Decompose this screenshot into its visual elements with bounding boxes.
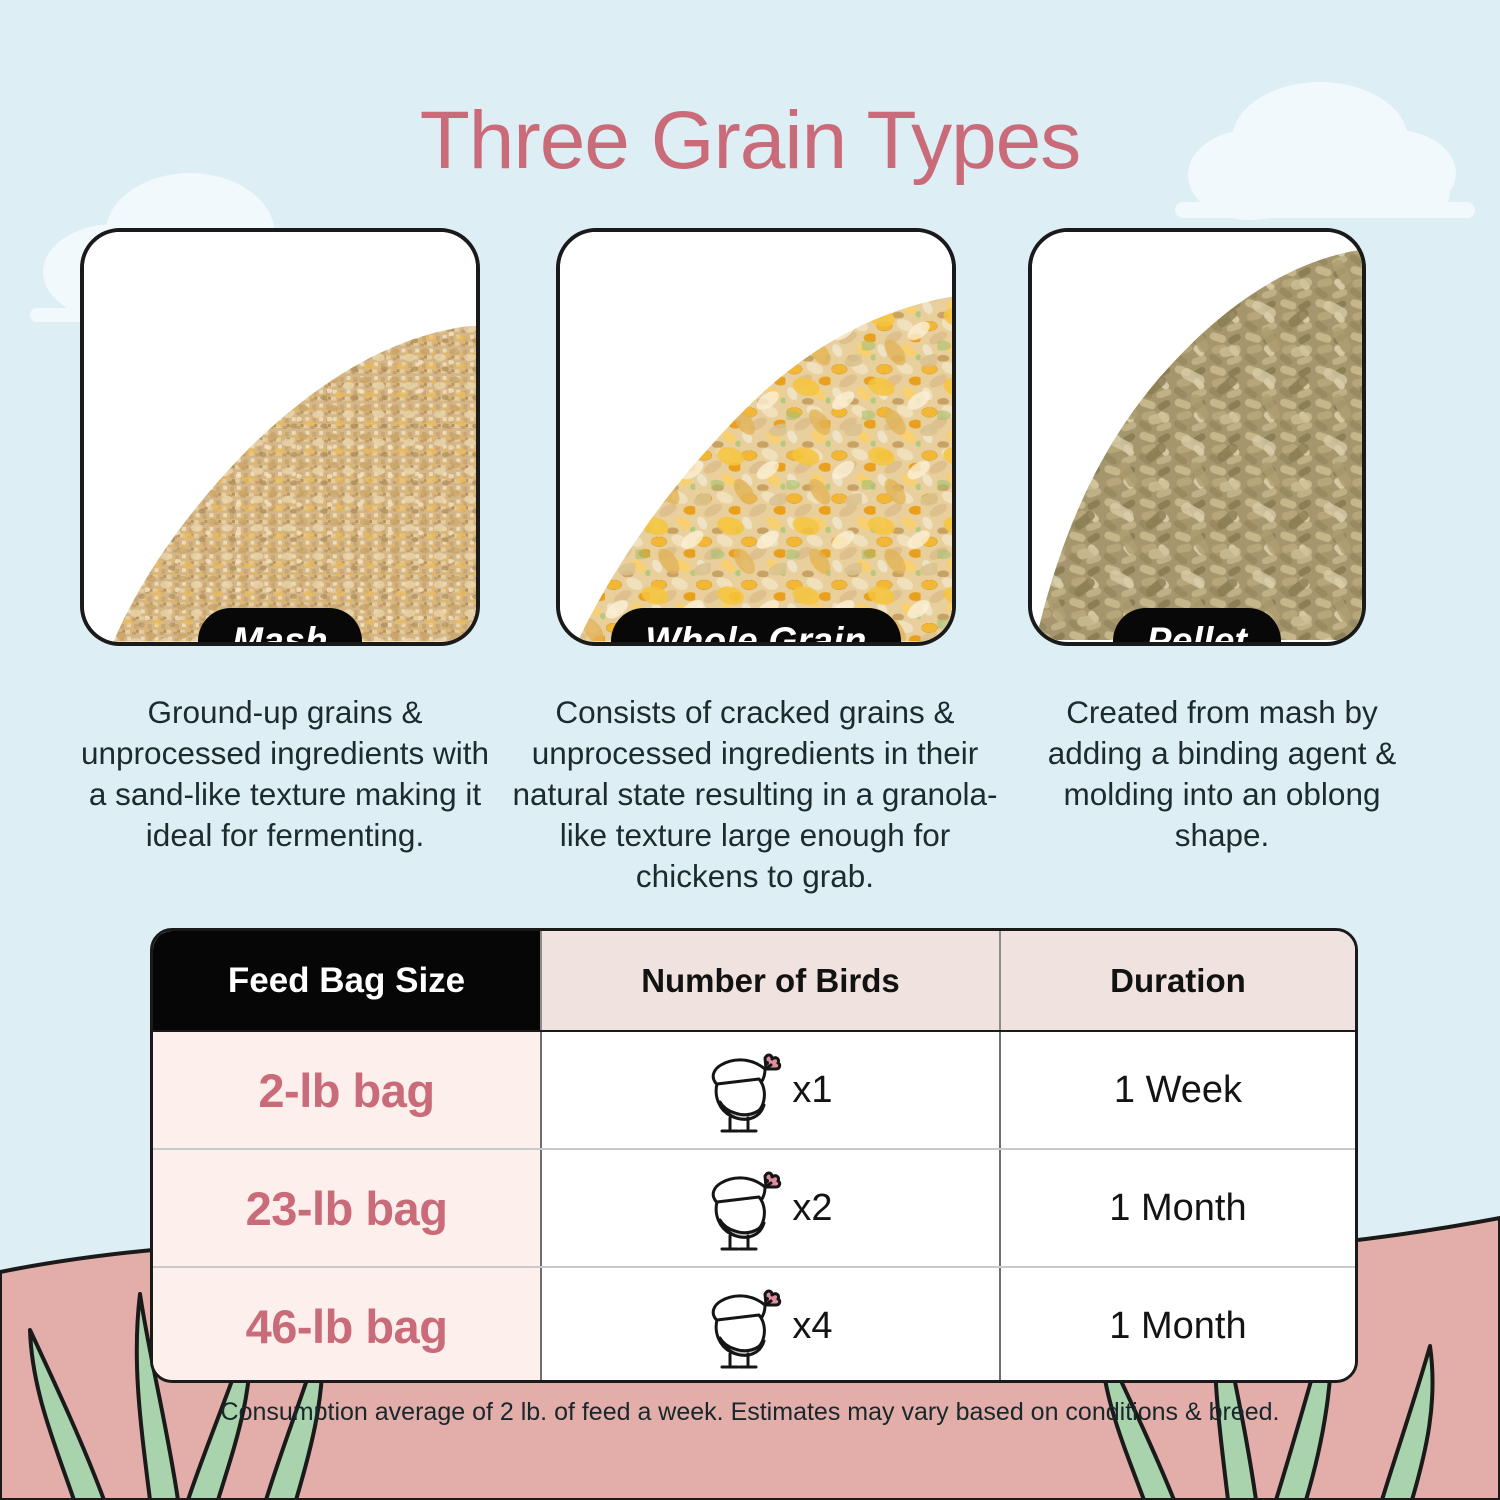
chicken-icon <box>708 1042 786 1138</box>
description-whole-grain: Consists of cracked grains & unprocessed… <box>510 692 1000 897</box>
table-header-row: Feed Bag Size Number of Birds Duration <box>153 931 1355 1030</box>
bird-count-label: x2 <box>792 1187 832 1230</box>
cell-number-of-birds: x1 <box>540 1032 999 1148</box>
bird-count-label: x4 <box>792 1305 832 1348</box>
mash-grain-photo <box>84 232 476 642</box>
table-header-duration: Duration <box>999 931 1355 1030</box>
grain-card-mash: Mash <box>80 228 480 646</box>
grain-card-pellet: Pellet <box>1028 228 1366 646</box>
chicken-icon <box>708 1160 786 1256</box>
description-pellet: Created from mash by adding a binding ag… <box>1022 692 1422 856</box>
bird-count-label: x1 <box>792 1069 832 1112</box>
pellet-grain-photo <box>1032 232 1362 640</box>
chicken-icon <box>708 1278 786 1374</box>
grain-card-whole-grain: Whole Grain <box>556 228 956 646</box>
table-row: 2-lb bag x1 1 Week <box>153 1030 1355 1148</box>
grain-card-row: Mash <box>0 228 1500 658</box>
footnote-text: Consumption average of 2 lb. of feed a w… <box>0 1398 1500 1427</box>
infographic-poster: Three Grain Types <box>0 0 1500 1500</box>
cell-feed-bag-size: 2-lb bag <box>153 1032 540 1148</box>
cell-duration: 1 Week <box>999 1032 1355 1148</box>
cell-number-of-birds: x4 <box>540 1268 999 1383</box>
table-row: 23-lb bag x2 1 Month <box>153 1148 1355 1266</box>
card-label-mash: Mash <box>198 608 362 646</box>
cell-duration: 1 Month <box>999 1268 1355 1383</box>
cell-feed-bag-size: 46-lb bag <box>153 1268 540 1383</box>
cell-number-of-birds: x2 <box>540 1150 999 1266</box>
cell-feed-bag-size: 23-lb bag <box>153 1150 540 1266</box>
table-row: 46-lb bag x4 1 Month <box>153 1266 1355 1383</box>
table-header-number-of-birds: Number of Birds <box>540 931 999 1030</box>
card-label-pellet: Pellet <box>1113 608 1282 646</box>
page-title: Three Grain Types <box>0 100 1500 182</box>
whole-grain-photo <box>560 232 952 642</box>
feed-bag-table: Feed Bag Size Number of Birds Duration 2… <box>150 928 1358 1383</box>
card-label-whole-grain: Whole Grain <box>611 608 900 646</box>
cell-duration: 1 Month <box>999 1150 1355 1266</box>
table-header-feed-bag-size: Feed Bag Size <box>153 931 540 1030</box>
description-mash: Ground-up grains & unprocessed ingredien… <box>70 692 500 856</box>
